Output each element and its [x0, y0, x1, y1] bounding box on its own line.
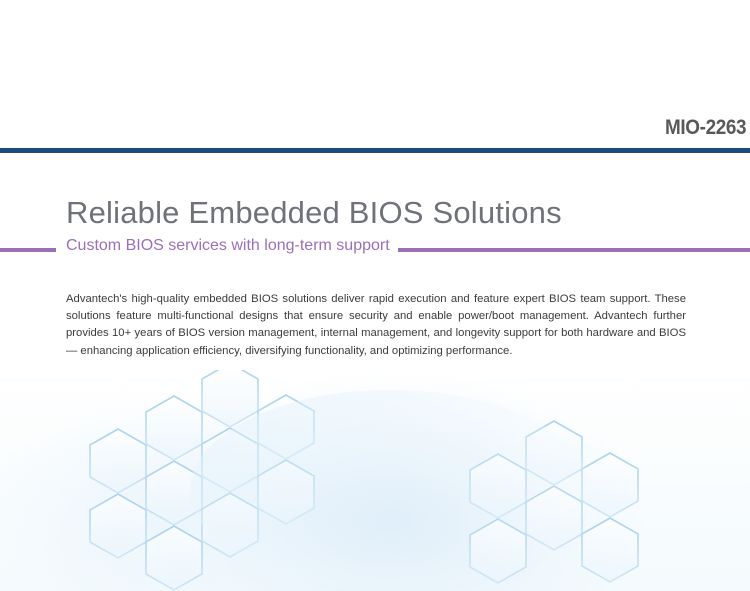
header-divider-rule	[0, 148, 750, 153]
bios-solution-illustration: Power Management Fast Boot BIOS Suite St…	[0, 370, 750, 591]
body-paragraph: Advantech's high-quality embedded BIOS s…	[66, 291, 686, 360]
page-header: MIO-2263	[0, 0, 750, 155]
page-title: Reliable Embedded BIOS Solutions	[66, 195, 562, 231]
page-subtitle: Custom BIOS services with long-term supp…	[66, 237, 390, 255]
subtitle-accent-line-right	[398, 248, 750, 252]
subtitle-row: Custom BIOS services with long-term supp…	[0, 240, 750, 260]
model-name: MIO-2263	[665, 116, 746, 140]
hexagon-lattice-graphic	[0, 370, 750, 591]
subtitle-accent-line-left	[0, 248, 56, 252]
